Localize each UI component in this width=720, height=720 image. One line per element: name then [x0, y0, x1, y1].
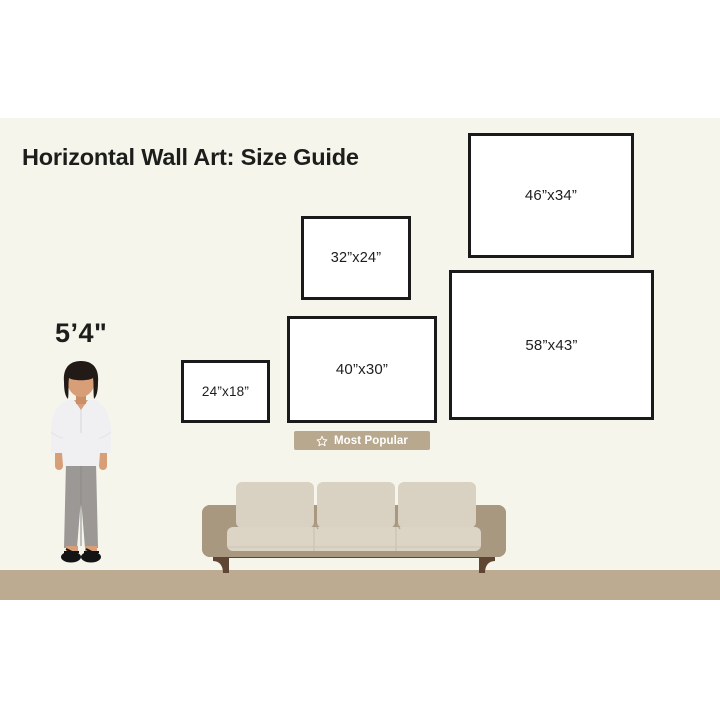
person-height-label: 5’4"	[55, 318, 107, 349]
most-popular-badge[interactable]: Most Popular	[294, 431, 430, 450]
frame-label: 32”x24”	[331, 250, 382, 266]
sofa-arm-left	[202, 505, 227, 557]
back-cushion-2	[317, 482, 395, 528]
page-title: Horizontal Wall Art: Size Guide	[22, 144, 359, 171]
left-shoe	[61, 552, 81, 563]
star-outline-icon	[316, 435, 328, 447]
frame-label: 40”x30”	[336, 361, 388, 378]
frame-label: 46”x34”	[525, 187, 577, 204]
room-scene: Horizontal Wall Art: Size Guide 5’4"	[0, 118, 720, 600]
frame-label: 58”x43”	[525, 337, 577, 354]
frame-40x30[interactable]: 40”x30”	[287, 316, 437, 423]
sofa-arm-right	[481, 505, 506, 557]
frame-46x34[interactable]: 46”x34”	[468, 133, 634, 258]
back-cushion-3	[398, 482, 476, 528]
frame-24x18[interactable]: 24”x18”	[181, 360, 270, 423]
frame-32x24[interactable]: 32”x24”	[301, 216, 411, 300]
person-figure	[38, 358, 124, 573]
frame-label: 24”x18”	[202, 384, 249, 399]
badge-label: Most Popular	[334, 435, 408, 447]
frame-58x43[interactable]: 58”x43”	[449, 270, 654, 420]
right-shoe	[81, 552, 101, 563]
sofa	[199, 473, 509, 583]
back-cushion-1	[236, 482, 314, 528]
